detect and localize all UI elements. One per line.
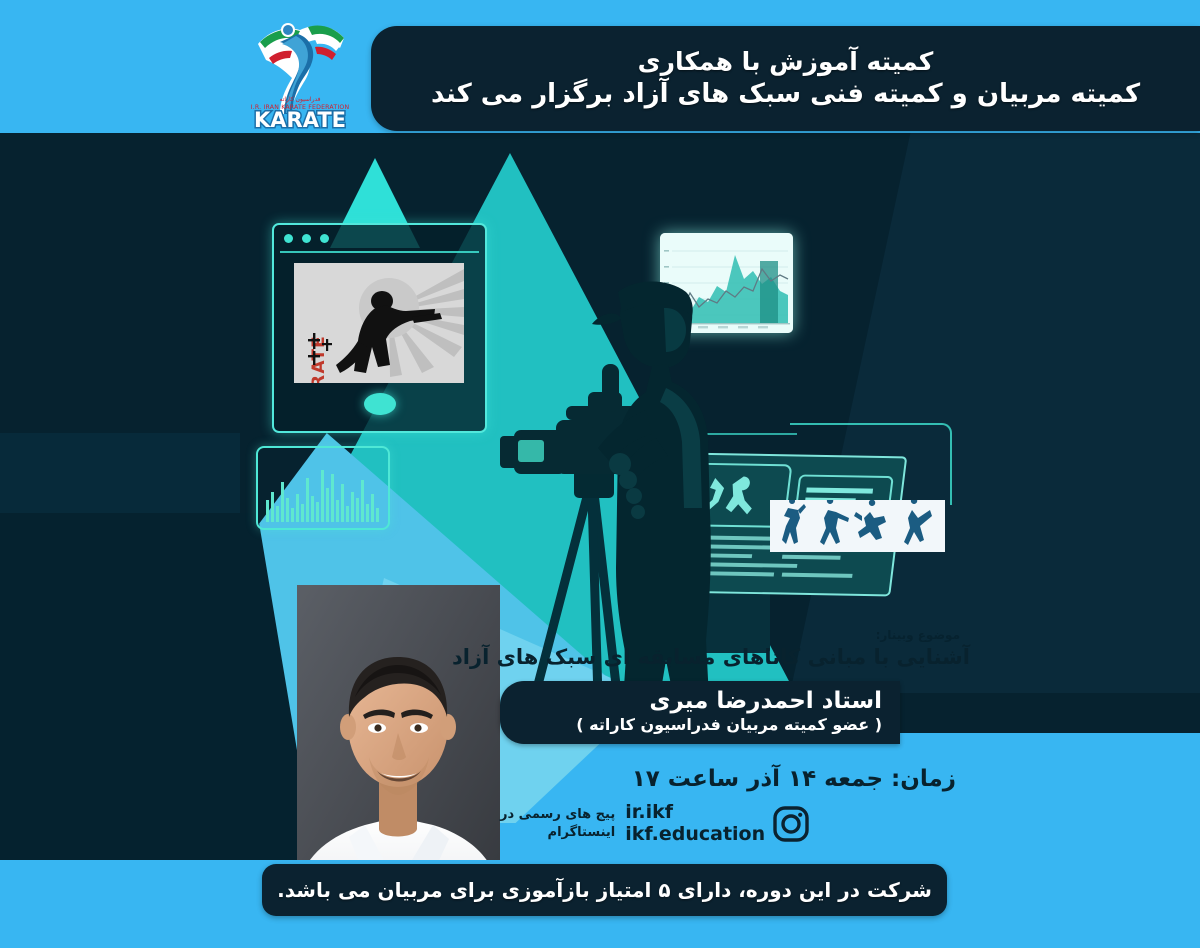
- karate-poster-art: KARATE: [294, 263, 464, 383]
- header-banner: کمیته آموزش با همکاری کمیته مربیان و کمی…: [371, 26, 1200, 131]
- instagram-block[interactable]: ir.ikf ikf.education: [625, 802, 810, 845]
- instagram-icon[interactable]: [772, 805, 810, 843]
- header-line-1: کمیته آموزش با همکاری: [638, 46, 934, 78]
- iran-karate-federation-logo: فدراسیون کاراته I.R. IRAN KARATE FEDERAT…: [240, 8, 360, 130]
- webinar-datetime: زمان: جمعه ۱۴ آذر ساعت ۱۷: [500, 766, 956, 792]
- monitor-stand: [364, 393, 396, 415]
- desktop-monitor: KARATE: [272, 223, 487, 433]
- subject-label: موضوع وبینار:: [500, 628, 960, 642]
- window-dot-1: [320, 234, 329, 243]
- social-label-line-1: پیج های رسمی در: [500, 806, 615, 824]
- instagram-handles[interactable]: ir.ikf ikf.education: [625, 802, 765, 845]
- social-row: پیج های رسمی در اینستاگرام ir.ikf ikf.ed…: [500, 802, 956, 845]
- speaker-role: ( عضو کمیته مربیان فدراسیون کاراته ): [530, 715, 882, 735]
- monitor-screen: KARATE: [294, 263, 464, 383]
- monitor-title-bar: [280, 251, 479, 253]
- karate-silhouette-strip: [770, 500, 945, 552]
- speaker-pill: استاد احمدرضا میری ( عضو کمیته مربیان فد…: [500, 681, 900, 745]
- subject-title: آشنایی با مبانی کاتاهای مسابقه ای سبک ها…: [500, 644, 970, 670]
- window-dot-2: [302, 234, 311, 243]
- svg-text:فدراسیون کاراته: فدراسیون کاراته: [280, 96, 321, 103]
- speaker-name: استاد احمدرضا میری: [530, 688, 882, 716]
- monitor-window-dots: [284, 234, 329, 243]
- footer-note: شرکت در این دوره، دارای ۵ امتیاز بازآموز…: [277, 878, 932, 902]
- instagram-handle-1[interactable]: ir.ikf: [625, 802, 765, 823]
- social-label-line-2: اینستاگرام: [500, 824, 615, 842]
- svg-text:KARATE: KARATE: [254, 108, 346, 130]
- illustration-stage: KARATE: [0, 133, 1200, 948]
- waveform-panel: [256, 446, 390, 530]
- webinar-info-block: موضوع وبینار: آشنایی با مبانی کاتاهای مس…: [500, 628, 970, 845]
- poster-root: کمیته آموزش با همکاری کمیته مربیان و کمی…: [0, 0, 1200, 948]
- footer-banner: شرکت در این دوره، دارای ۵ امتیاز بازآموز…: [262, 864, 947, 916]
- header-line-2: کمیته مربیان و کمیته فنی سبک های آزاد بر…: [431, 78, 1140, 111]
- social-label: پیج های رسمی در اینستاگرام: [500, 806, 615, 841]
- window-dot-3: [284, 234, 293, 243]
- karate-silhouettes: [770, 500, 945, 552]
- instagram-handle-2[interactable]: ikf.education: [625, 824, 765, 845]
- waveform-bars: [258, 448, 388, 528]
- bg-wedge-right: [790, 133, 1200, 693]
